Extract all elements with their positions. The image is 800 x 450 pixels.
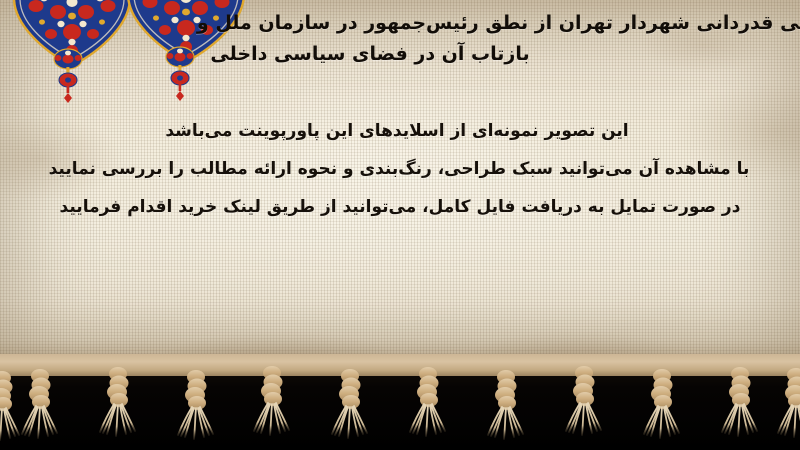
body-line-2: با مشاهده آن می‌توانید سبک طراحی، رنگ‌بن… — [0, 150, 800, 188]
carpet-fringe-tassels-icon — [0, 360, 800, 450]
title-line-2: بازتاب آن در فضای سیاسی داخلی — [0, 39, 800, 70]
body-line-3: در صورت تمایل به دریافت فایل کامل، می‌تو… — [0, 188, 800, 226]
title-line-1: سی قدردانی شهردار تهران از نطق رئیس‌جمهو… — [0, 8, 800, 39]
slide-canvas: سی قدردانی شهردار تهران از نطق رئیس‌جمهو… — [0, 0, 800, 450]
slide-title: سی قدردانی شهردار تهران از نطق رئیس‌جمهو… — [0, 8, 800, 70]
body-line-1: این تصویر نمونه‌ای از اسلایدهای این پاور… — [0, 112, 800, 150]
slide-body-text: این تصویر نمونه‌ای از اسلایدهای این پاور… — [0, 112, 800, 226]
carpet-fringe — [0, 354, 800, 450]
